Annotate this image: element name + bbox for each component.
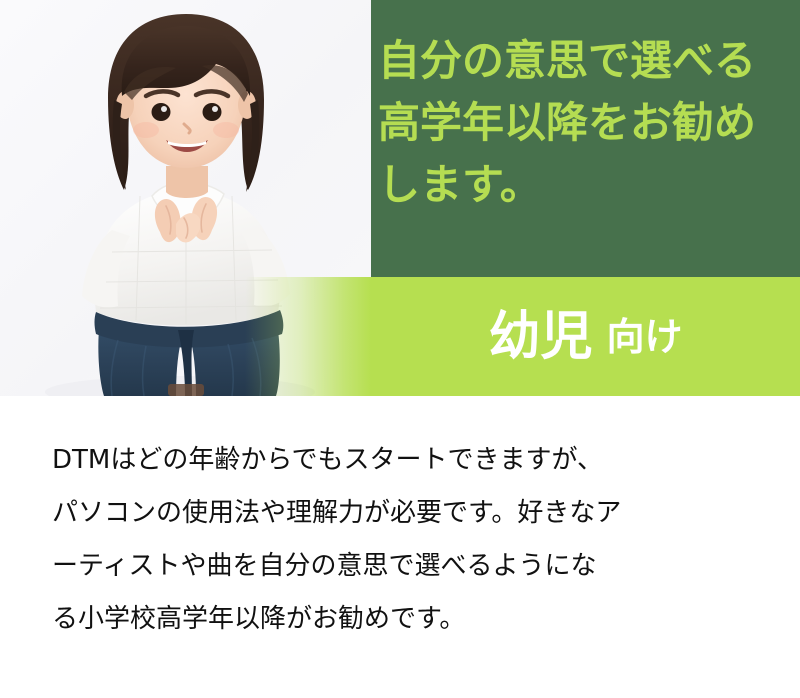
description-line-2: パソコンの使用法や理解力が必要です。好きなア: [52, 487, 762, 540]
audience-badge-band: 幼児 向け: [0, 277, 800, 396]
description-line-3: ーティストや曲を自分の意思で選べるようにな: [52, 540, 762, 593]
badge-sub-label: 向け: [607, 318, 683, 356]
badge-gradient-fade: [0, 277, 371, 396]
headline-line-1: 自分の意思で選べる: [378, 30, 800, 92]
badge-main-label: 幼児: [488, 311, 592, 363]
age-recommendation-card: 自分の意思で選べる 高学年以降をお勧め します。 幼児 向け DTMはどの年齢か…: [0, 0, 800, 698]
headline-panel: 自分の意思で選べる 高学年以降をお勧め します。: [371, 0, 800, 277]
description-text: DTMはどの年齢からでもスタートできますが、 パソコンの使用法や理解力が必要です…: [52, 434, 762, 646]
description-line-4: る小学校高学年以降がお勧めです。: [52, 593, 762, 646]
headline-line-2: 高学年以降をお勧め: [378, 92, 800, 154]
headline-line-3: します。: [378, 154, 800, 216]
audience-badge: 幼児 向け: [371, 277, 800, 396]
hero-headline: 自分の意思で選べる 高学年以降をお勧め します。: [378, 30, 800, 216]
description-line-1: DTMはどの年齢からでもスタートできますが、: [52, 434, 762, 487]
hero-section: 自分の意思で選べる 高学年以降をお勧め します。 幼児 向け: [0, 0, 800, 396]
